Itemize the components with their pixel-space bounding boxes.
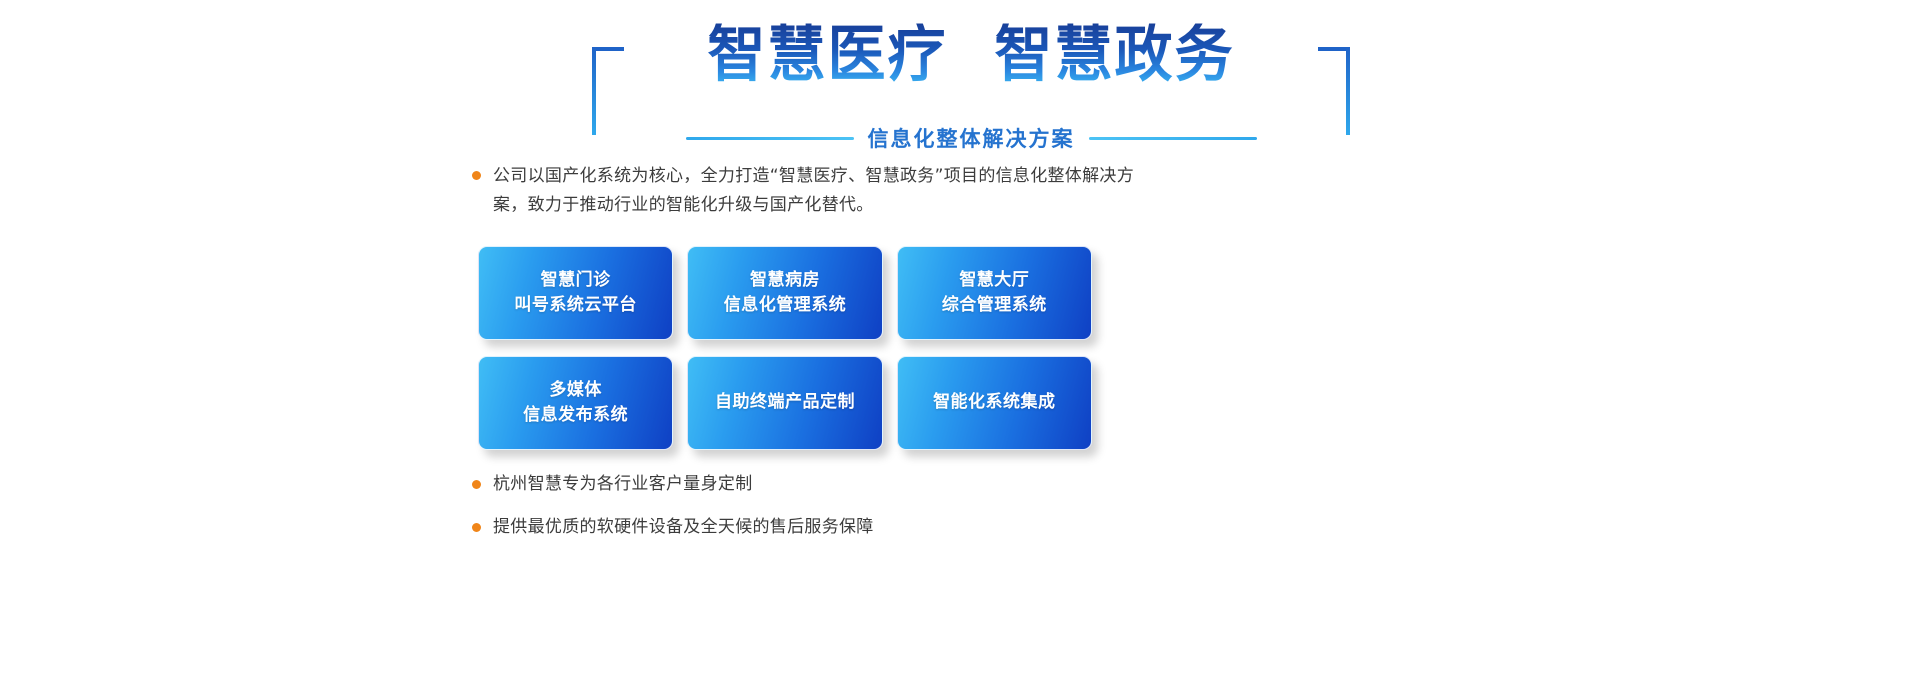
- subtitle-text: 信息化整体解决方案: [868, 123, 1075, 153]
- solution-card-self-service-terminal[interactable]: 自助终端产品定制: [687, 356, 882, 450]
- feature-bullet-list: 杭州智慧专为各行业客户量身定制 提供最优质的软硬件设备及全天候的售后服务保障: [472, 472, 1172, 557]
- list-item: 杭州智慧专为各行业客户量身定制: [472, 472, 1172, 498]
- subtitle-rule-right: [1089, 137, 1257, 140]
- title-part-smart-healthcare: 智慧医疗: [708, 23, 948, 84]
- solution-card-system-integration[interactable]: 智能化系统集成: [897, 356, 1092, 450]
- promo-banner: 智慧医疗 智慧政务 信息化整体解决方案 公司以国产化系统为核心，全力打造“智慧医…: [0, 0, 1920, 680]
- bullet-text: 提供最优质的软硬件设备及全天候的售后服务保障: [493, 515, 874, 541]
- intro-paragraph-text: 公司以国产化系统为核心，全力打造“智慧医疗、智慧政务”项目的信息化整体解决方案，…: [493, 162, 1162, 220]
- solution-card-smart-ward[interactable]: 智慧病房 信息化管理系统: [687, 246, 882, 340]
- page-title: 智慧医疗 智慧政务: [576, 25, 1366, 83]
- title-part-smart-government: 智慧政务: [994, 23, 1234, 84]
- card-label: 智慧门诊 叫号系统云平台: [514, 268, 637, 319]
- solution-card-smart-hall[interactable]: 智慧大厅 综合管理系统: [897, 246, 1092, 340]
- card-label: 智能化系统集成: [933, 390, 1056, 416]
- subtitle-rule-left: [686, 137, 854, 140]
- solution-card-multimedia[interactable]: 多媒体 信息发布系统: [478, 356, 673, 450]
- card-label: 智慧病房 信息化管理系统: [724, 268, 847, 319]
- subtitle-block: 信息化整体解决方案: [576, 123, 1366, 153]
- card-label: 智慧大厅 综合管理系统: [942, 268, 1047, 319]
- header-block: 智慧医疗 智慧政务 信息化整体解决方案: [576, 25, 1366, 150]
- intro-paragraph: 公司以国产化系统为核心，全力打造“智慧医疗、智慧政务”项目的信息化整体解决方案，…: [472, 162, 1162, 220]
- list-item: 提供最优质的软硬件设备及全天候的售后服务保障: [472, 515, 1172, 541]
- bullet-dot-icon: [472, 171, 481, 180]
- solution-card-grid: 智慧门诊 叫号系统云平台 智慧病房 信息化管理系统 智慧大厅 综合管理系统 多媒…: [478, 246, 1092, 450]
- card-label: 多媒体 信息发布系统: [523, 378, 628, 429]
- card-label: 自助终端产品定制: [715, 390, 855, 416]
- bullet-text: 杭州智慧专为各行业客户量身定制: [493, 472, 753, 498]
- bullet-dot-icon: [472, 480, 481, 489]
- solution-card-smart-outpatient[interactable]: 智慧门诊 叫号系统云平台: [478, 246, 673, 340]
- bullet-dot-icon: [472, 523, 481, 532]
